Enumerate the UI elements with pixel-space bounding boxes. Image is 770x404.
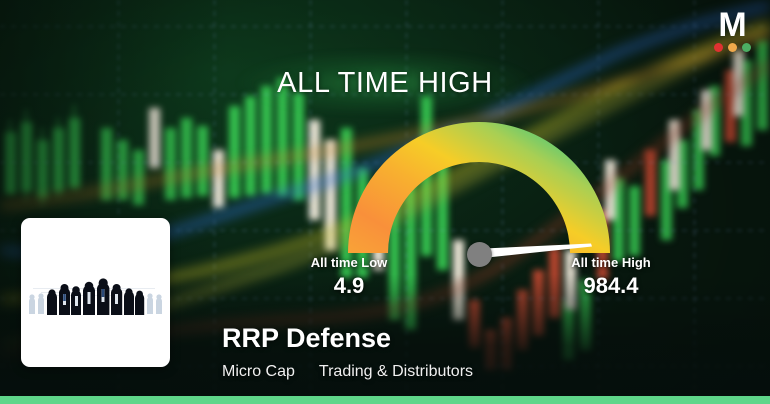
title-banner: ALL TIME HIGH	[0, 52, 770, 114]
all-time-high-label: All time High 984.4	[551, 255, 671, 300]
logo-letter-m: M	[708, 10, 756, 40]
business-people-silhouette-icon	[21, 268, 170, 320]
company-meta: Micro Cap Trading & Distributors	[222, 362, 473, 382]
company-market-cap: Micro Cap	[222, 362, 295, 382]
gauge-needle-hub	[467, 242, 492, 267]
logo-dot-green	[742, 43, 751, 52]
all-time-low-value: 4.9	[289, 272, 409, 300]
stock-highlight-card: ALL TIME HIGH All time Low 4.9	[0, 0, 770, 404]
company-sector: Trading & Distributors	[319, 362, 473, 382]
brand-logo[interactable]: M	[708, 10, 756, 54]
logo-dots	[708, 43, 756, 52]
all-time-high-value: 984.4	[551, 272, 671, 300]
bottom-accent-bar	[0, 396, 770, 404]
page-title: ALL TIME HIGH	[277, 67, 493, 100]
all-time-high-caption: All time High	[551, 255, 671, 271]
all-time-low-caption: All time Low	[289, 255, 409, 271]
company-thumbnail	[21, 218, 170, 367]
all-time-gauge	[346, 112, 616, 254]
gauge-needle	[346, 112, 616, 254]
all-time-low-label: All time Low 4.9	[289, 255, 409, 300]
logo-dot-red	[714, 43, 723, 52]
logo-dot-orange	[728, 43, 737, 52]
company-name: RRP Defense	[222, 322, 473, 355]
company-info: RRP Defense Micro Cap Trading & Distribu…	[222, 322, 473, 382]
